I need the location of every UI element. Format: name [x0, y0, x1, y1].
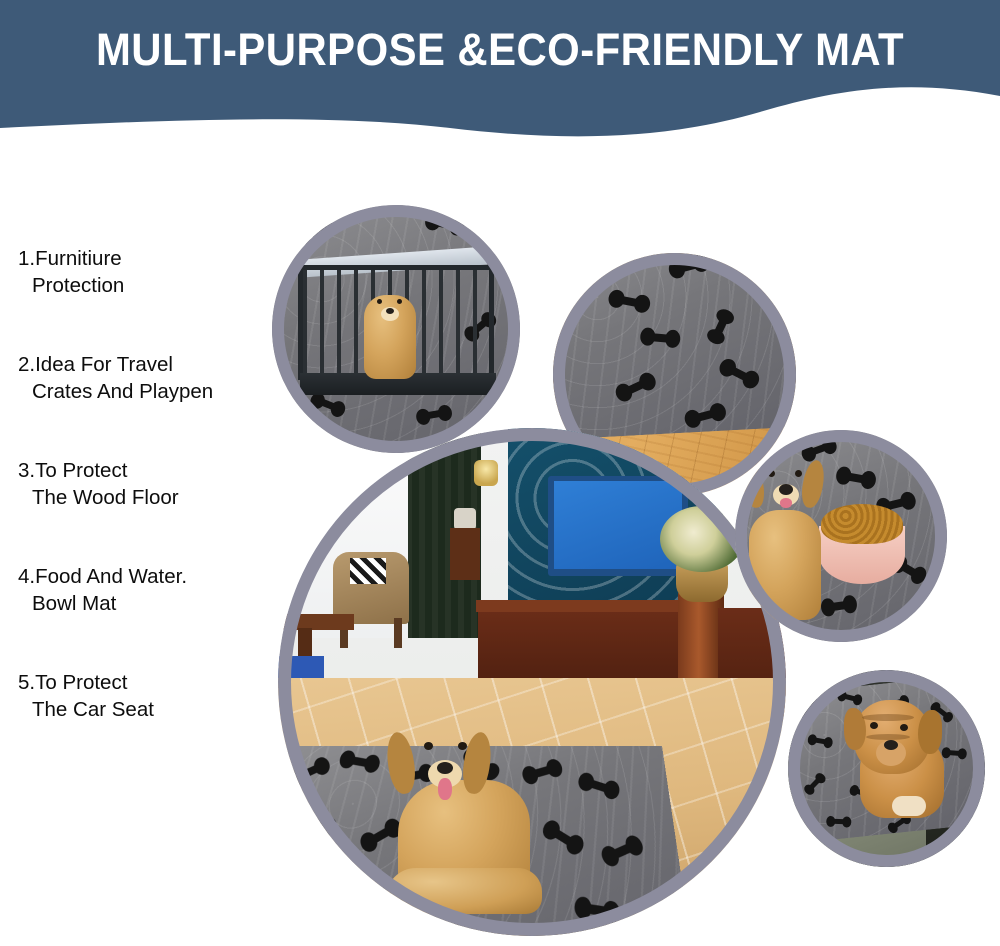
- puppy-ear: [844, 708, 866, 750]
- bone-icon: [811, 737, 829, 745]
- bone-icon: [946, 750, 963, 756]
- product-infographic: MULTI-PURPOSE &ECO-FRIENDLY MAT 1.Furnit…: [0, 0, 1000, 946]
- puppy-nose: [884, 740, 898, 750]
- living-room-dog-tongue: [438, 778, 452, 800]
- crate-dog-nose: [386, 308, 394, 314]
- bone-icon: [691, 408, 720, 423]
- puppy-ear: [918, 710, 942, 754]
- collage-image-car-seat: [788, 670, 985, 867]
- bone-icon: [608, 841, 637, 860]
- living-room-dog-nose: [437, 762, 453, 774]
- living-room-dog-legs: [386, 868, 542, 914]
- bone-icon: [725, 364, 754, 384]
- statue-pedestal: [450, 528, 480, 580]
- bone-icon: [367, 824, 396, 846]
- puppy-eye: [900, 724, 908, 731]
- statue: [454, 508, 476, 530]
- bone-icon: [891, 816, 908, 830]
- puppy-wrinkle: [862, 714, 914, 721]
- puppy-wrinkle: [866, 734, 910, 740]
- mat-surface: [553, 253, 796, 440]
- bone-icon: [615, 295, 644, 308]
- bone-icon: [807, 776, 822, 792]
- table-lamp: [474, 460, 498, 486]
- living-room-dog-eye: [424, 742, 433, 750]
- bone-icon: [425, 930, 456, 936]
- bone-icon: [827, 600, 852, 611]
- collage-image-crate: [272, 205, 520, 453]
- food-bowl-dog-eye: [795, 470, 802, 477]
- credenza-top: [476, 600, 692, 612]
- bone-icon: [830, 819, 847, 825]
- bone-icon: [302, 225, 329, 240]
- bone-icon: [585, 778, 613, 794]
- bone-icon: [567, 263, 594, 280]
- bone-icon: [621, 378, 650, 397]
- bone-icon: [422, 409, 447, 420]
- coffee-table: [278, 614, 354, 630]
- crate-dog-eye: [397, 299, 402, 304]
- kibble: [821, 504, 903, 544]
- bone-icon: [841, 693, 859, 702]
- food-bowl-dog-body: [749, 510, 821, 620]
- header-banner: MULTI-PURPOSE &ECO-FRIENDLY MAT: [0, 0, 1000, 145]
- image-collage: [0, 140, 1000, 946]
- bone-icon: [582, 903, 612, 917]
- armchair-pillow: [350, 558, 386, 584]
- crate-dog-eye: [377, 299, 382, 304]
- bone-icon: [675, 259, 703, 274]
- bone-icon: [800, 701, 817, 715]
- puppy-paw: [892, 796, 926, 816]
- bone-icon: [807, 442, 832, 457]
- bone-icon: [432, 218, 459, 230]
- collage-image-food-bowl: [735, 430, 947, 642]
- bone-icon: [712, 314, 729, 339]
- bone-icon: [529, 764, 557, 779]
- puppy-eye: [870, 722, 878, 729]
- bone-icon: [346, 756, 374, 768]
- flower-arrangement: [660, 506, 744, 572]
- bone-icon: [549, 826, 578, 849]
- bone-icon: [647, 333, 674, 343]
- page-title: MULTI-PURPOSE &ECO-FRIENDLY MAT: [35, 24, 965, 76]
- food-bowl-dog-tongue: [780, 498, 792, 508]
- collage-image-living-room: [278, 428, 786, 936]
- bone-icon: [316, 397, 341, 412]
- food-bowl-dog-nose: [779, 484, 793, 495]
- bone-icon: [843, 472, 870, 484]
- armchair-leg: [394, 618, 402, 648]
- bone-icon: [286, 876, 316, 892]
- bone-icon: [296, 762, 324, 781]
- living-room-dog-eye: [458, 742, 467, 750]
- bone-icon: [302, 812, 330, 831]
- food-bowl-dog-eye: [768, 470, 775, 477]
